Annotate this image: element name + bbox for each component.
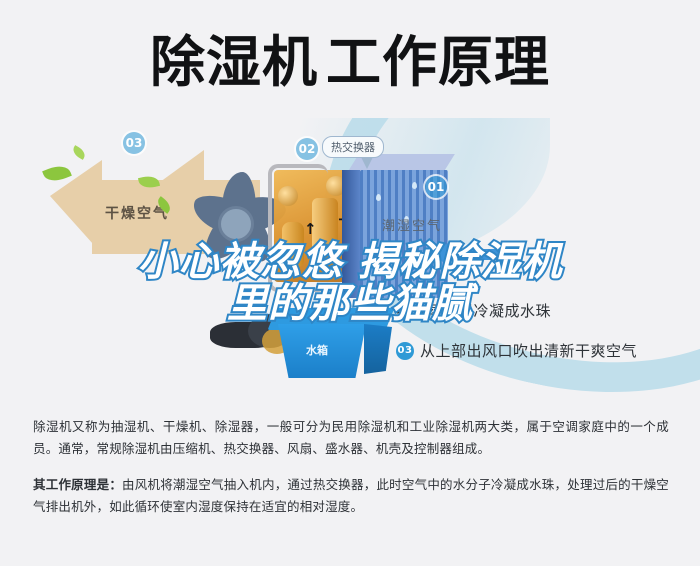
condensation-droplet <box>370 274 375 281</box>
step-03-description: 从上部出风口吹出清新干爽空气 <box>420 340 637 361</box>
paragraph-2: 其工作原理是：由风机将潮湿空气抽入机内，通过热交换器，此时空气中的水分子冷凝成水… <box>33 474 669 518</box>
arrow-up-icon: ↑ <box>304 222 317 237</box>
condensation-droplet <box>386 246 391 253</box>
page-root: 除湿机工作原理 干燥空气 <box>0 0 700 566</box>
step-badge-03-bottom: 03 <box>396 342 414 360</box>
step-badge-01: 01 <box>425 176 447 198</box>
article-body: 除湿机又称为抽湿机、干燥机、除湿器，一般可分为民用除湿机和工业除湿机两大类，属于… <box>33 416 669 518</box>
step-02-description: 经过蒸发器冷凝成水珠 <box>396 300 551 321</box>
condensation-droplet <box>376 194 381 201</box>
page-title: 除湿机工作原理 <box>0 30 700 94</box>
step-03-row: 03 从上部出风口吹出清新干爽空气 <box>396 340 637 361</box>
paragraph-2-rest: 由风机将潮湿空气抽入机内，通过热交换器，此时空气中的水分子冷凝成水珠，处理过后的… <box>33 477 669 514</box>
water-tank-side <box>364 324 392 374</box>
title-part-1: 除湿机 <box>150 30 318 94</box>
humid-air-inlet-arrow <box>430 246 504 262</box>
paragraph-1: 除湿机又称为抽湿机、干燥机、除湿器，一般可分为民用除湿机和工业除湿机两大类，属于… <box>33 416 669 460</box>
step-badge-03: 03 <box>123 132 145 154</box>
title-part-2: 工作原理 <box>326 30 550 94</box>
diagram-stage: 干燥空气 ↑ → ↓ <box>0 118 700 408</box>
water-tank-label: 水箱 <box>306 342 328 358</box>
compressor-knob <box>278 186 298 206</box>
water-tank-illustration: 水箱 <box>268 308 398 382</box>
paragraph-2-lead: 其工作原理是： <box>33 477 122 492</box>
humid-air-label: 潮湿空气 <box>382 215 442 234</box>
fan-hub <box>218 206 254 242</box>
condensation-droplet <box>412 182 417 189</box>
step-badge-02: 02 <box>296 138 318 160</box>
evaporator-side-panel <box>342 170 360 298</box>
compressor-cylinder <box>282 222 304 268</box>
inlet-arrow-shaft <box>446 249 504 260</box>
heat-exchanger-callout: 热交换器 <box>322 136 384 158</box>
condensation-droplet <box>420 262 425 269</box>
page-title-text: 除湿机工作原理 <box>150 30 550 94</box>
